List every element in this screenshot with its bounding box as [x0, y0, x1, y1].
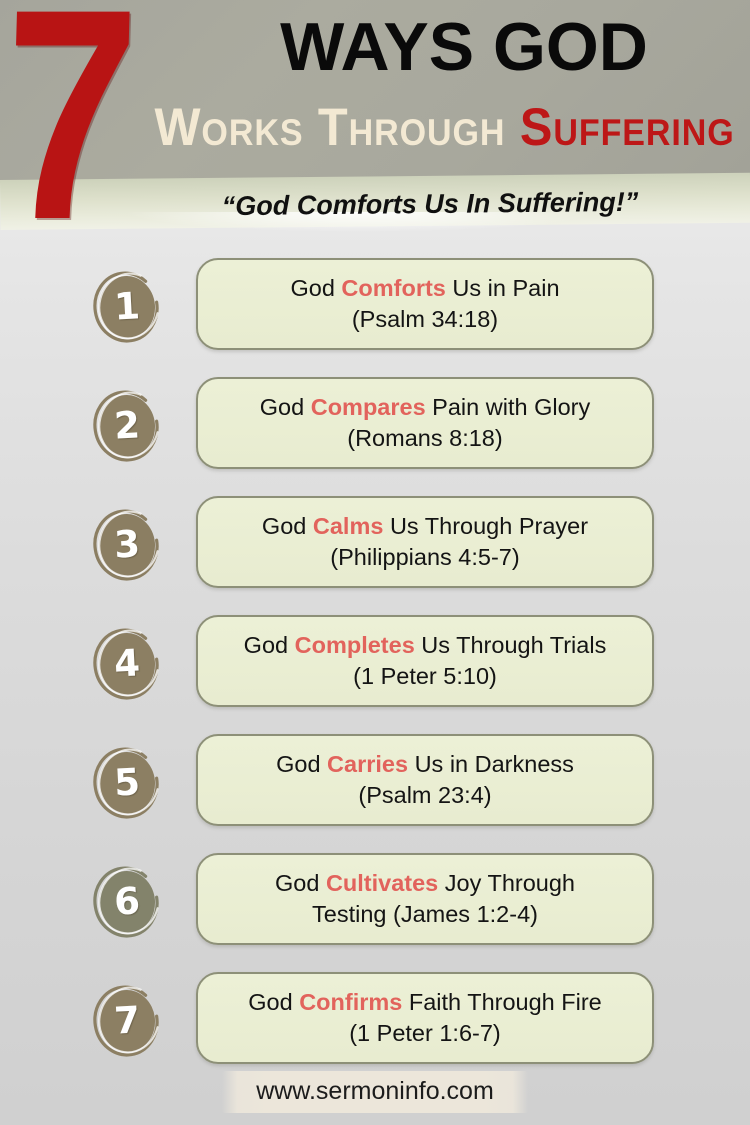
- scripture-reference: (Romans 8:18): [347, 425, 502, 451]
- step-number-badge: 6: [88, 858, 166, 944]
- way-suffix: Us Through Prayer: [383, 513, 588, 539]
- way-suffix: Us Through Trials: [415, 632, 607, 658]
- way-suffix: Us in Darkness: [408, 751, 574, 777]
- scripture-reference: (Psalm 23:4): [358, 782, 491, 808]
- footer: www.sermoninfo.com: [0, 1068, 750, 1116]
- scripture-reference: (1 Peter 1:6-7): [349, 1020, 501, 1046]
- step-number-badge: 3: [88, 501, 166, 587]
- scripture-reference: (Psalm 34:18): [352, 306, 498, 332]
- way-suffix: Joy Through: [438, 870, 575, 896]
- way-card-text: God Compares Pain with Glory(Romans 8:18…: [260, 392, 590, 454]
- way-prefix: God: [244, 632, 295, 658]
- way-card-text: God Confirms Faith Through Fire(1 Peter …: [248, 987, 602, 1049]
- list-item: 2God Compares Pain with Glory(Romans 8:1…: [0, 377, 750, 485]
- step-number-badge: 7: [88, 977, 166, 1063]
- way-card-text: God Calms Us Through Prayer(Philippians …: [262, 511, 588, 573]
- list-item: 4God Completes Us Through Trials(1 Peter…: [0, 615, 750, 723]
- step-number-badge: 5: [88, 739, 166, 825]
- way-card[interactable]: God Carries Us in Darkness(Psalm 23:4): [196, 734, 654, 826]
- list-item: 7God Confirms Faith Through Fire(1 Peter…: [0, 972, 750, 1080]
- way-suffix: Us in Pain: [446, 275, 560, 301]
- way-keyword: Carries: [327, 751, 408, 777]
- ways-list: 1God Comforts Us in Pain(Psalm 34:18)2Go…: [0, 258, 750, 1091]
- way-keyword: Cultivates: [326, 870, 438, 896]
- footer-brush-stroke: www.sermoninfo.com: [222, 1071, 528, 1113]
- subtitle-quote: “God Comforts Us In Suffering!”: [130, 184, 730, 224]
- way-card[interactable]: God Comforts Us in Pain(Psalm 34:18): [196, 258, 654, 350]
- way-card-text: God Comforts Us in Pain(Psalm 34:18): [290, 273, 559, 335]
- way-prefix: God: [248, 989, 299, 1015]
- way-keyword: Confirms: [299, 989, 402, 1015]
- step-number-badge: 2: [88, 382, 166, 468]
- big-number-seven: 7: [0, 0, 135, 264]
- way-keyword: Calms: [313, 513, 384, 539]
- way-card-text: God Carries Us in Darkness(Psalm 23:4): [276, 749, 574, 811]
- way-card-text: God Completes Us Through Trials(1 Peter …: [244, 630, 607, 692]
- way-card[interactable]: God Compares Pain with Glory(Romans 8:18…: [196, 377, 654, 469]
- way-card-text: God Cultivates Joy ThroughTesting (James…: [275, 868, 575, 930]
- way-card[interactable]: God Confirms Faith Through Fire(1 Peter …: [196, 972, 654, 1064]
- way-suffix: Pain with Glory: [426, 394, 591, 420]
- scripture-reference: (Philippians 4:5-7): [330, 544, 519, 570]
- infographic-poster: 7 WAYS GOD Works Through Suffering “God …: [0, 0, 750, 1125]
- way-card[interactable]: God Calms Us Through Prayer(Philippians …: [196, 496, 654, 588]
- way-prefix: God: [275, 870, 326, 896]
- step-number-badge: 4: [88, 620, 166, 706]
- way-keyword: Compares: [311, 394, 426, 420]
- way-keyword: Comforts: [341, 275, 445, 301]
- list-item: 6God Cultivates Joy ThroughTesting (Jame…: [0, 853, 750, 961]
- way-card[interactable]: God Completes Us Through Trials(1 Peter …: [196, 615, 654, 707]
- way-prefix: God: [262, 513, 313, 539]
- way-card[interactable]: God Cultivates Joy ThroughTesting (James…: [196, 853, 654, 945]
- title-line-2-suffering: Suffering: [520, 98, 735, 157]
- way-prefix: God: [276, 751, 327, 777]
- way-prefix: God: [260, 394, 311, 420]
- way-prefix: God: [290, 275, 341, 301]
- list-item: 5God Carries Us in Darkness(Psalm 23:4): [0, 734, 750, 842]
- scripture-reference: Testing (James 1:2-4): [312, 901, 538, 927]
- footer-website-url[interactable]: www.sermoninfo.com: [256, 1077, 494, 1105]
- way-suffix: Faith Through Fire: [402, 989, 601, 1015]
- page-title-line-2: Works Through Suffering: [154, 99, 717, 157]
- scripture-reference: (1 Peter 5:10): [353, 663, 497, 689]
- list-item: 3God Calms Us Through Prayer(Philippians…: [0, 496, 750, 604]
- page-title-line-1: WAYS GOD: [186, 8, 742, 86]
- title-line-2-works-through: Works Through: [154, 98, 519, 157]
- way-keyword: Completes: [295, 632, 415, 658]
